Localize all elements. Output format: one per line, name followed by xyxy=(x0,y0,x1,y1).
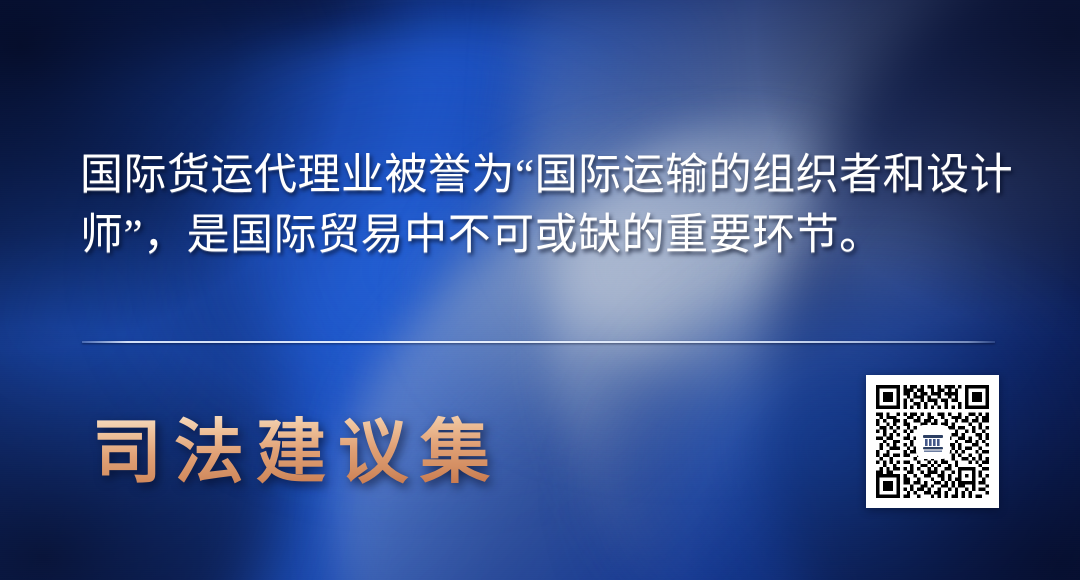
qr-code[interactable] xyxy=(866,375,999,508)
quote-line-1: 国际货运代理业被誉为“国际运输的组织者和设计 xyxy=(80,146,1010,206)
banner-content: 国际货运代理业被誉为“国际运输的组织者和设计 师”，是国际贸易中不可或缺的重要环… xyxy=(0,0,1080,580)
qr-code-matrix xyxy=(876,385,989,498)
banner-title: 司法建议集 xyxy=(92,396,502,497)
quote-block: 国际货运代理业被誉为“国际运输的组织者和设计 师”，是国际贸易中不可或缺的重要环… xyxy=(80,146,1010,266)
courthouse-logo-icon xyxy=(918,427,948,457)
quote-line-2: 师”，是国际贸易中不可或缺的重要环节。 xyxy=(80,206,1010,266)
judicial-suggestion-banner: 国际货运代理业被誉为“国际运输的组织者和设计 师”，是国际贸易中不可或缺的重要环… xyxy=(0,0,1080,580)
divider-rule xyxy=(82,341,995,343)
